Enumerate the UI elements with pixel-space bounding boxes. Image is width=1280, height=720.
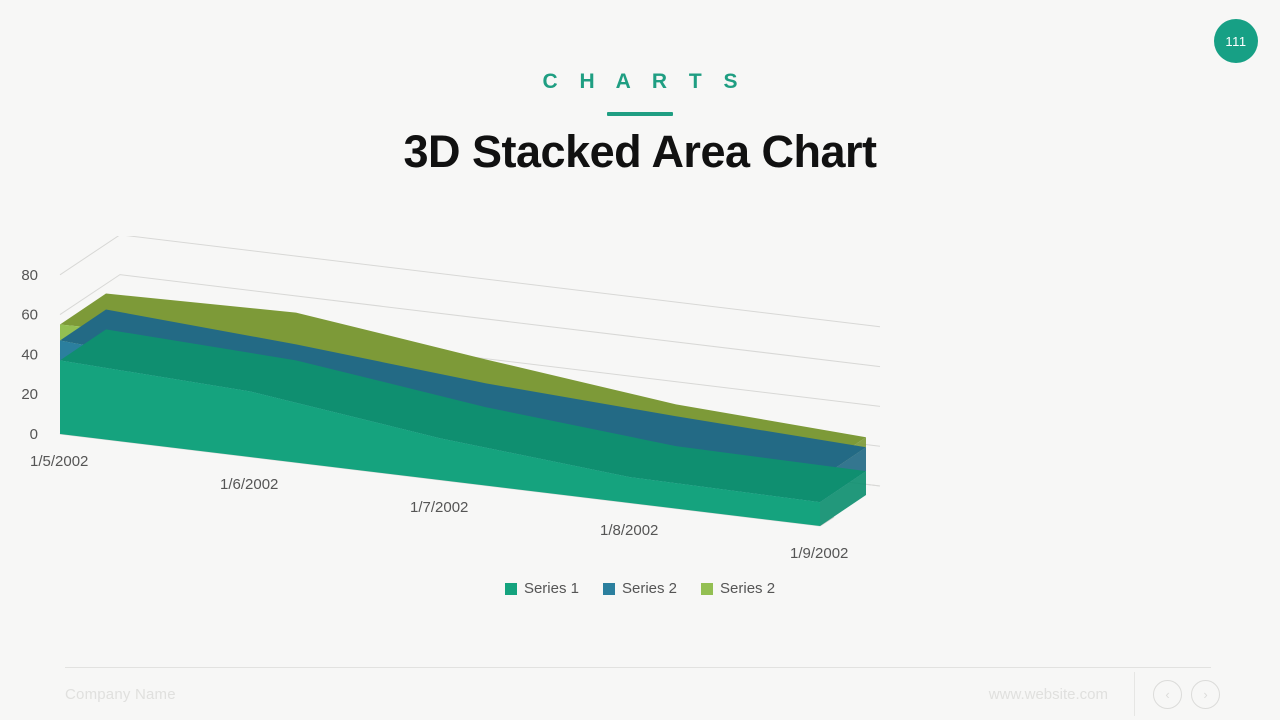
title-underline bbox=[607, 112, 673, 116]
y-axis-tick-label: 0 bbox=[30, 426, 38, 443]
x-axis-tick-label: 1/9/2002 bbox=[790, 545, 848, 562]
y-axis-tick-label: 20 bbox=[21, 386, 38, 403]
y-axis-tick-label: 60 bbox=[21, 307, 38, 324]
x-axis-tick-label: 1/7/2002 bbox=[410, 499, 468, 516]
slide-footer: Company Name www.website.com ‹ › bbox=[65, 672, 1220, 716]
x-axis-tick-label: 1/6/2002 bbox=[220, 476, 278, 493]
legend-label: Series 2 bbox=[622, 580, 677, 597]
legend-swatch-icon bbox=[505, 583, 517, 595]
x-axis-tick-label: 1/8/2002 bbox=[600, 522, 658, 539]
nav-buttons: ‹ › bbox=[1153, 680, 1220, 709]
page-number: 111 bbox=[1225, 34, 1246, 49]
footer-divider bbox=[65, 667, 1211, 668]
footer-vertical-divider bbox=[1134, 672, 1135, 716]
next-slide-button[interactable]: › bbox=[1191, 680, 1220, 709]
page-number-badge: 111 bbox=[1214, 19, 1258, 63]
legend-item[interactable]: Series 1 bbox=[505, 580, 579, 597]
legend-swatch-icon bbox=[603, 583, 615, 595]
slide: 111 C H A R T S 3D Stacked Area Chart 02… bbox=[0, 0, 1280, 720]
y-axis-tick-label: 80 bbox=[21, 267, 38, 284]
x-axis-tick-label: 1/5/2002 bbox=[30, 453, 88, 470]
legend-label: Series 1 bbox=[524, 580, 579, 597]
website-url: www.website.com bbox=[989, 686, 1108, 703]
slide-header: C H A R T S 3D Stacked Area Chart bbox=[0, 70, 1280, 178]
y-axis-tick-label: 40 bbox=[21, 346, 38, 363]
company-name: Company Name bbox=[65, 686, 176, 703]
legend-label: Series 2 bbox=[720, 580, 775, 597]
legend-item[interactable]: Series 2 bbox=[701, 580, 775, 597]
prev-slide-button[interactable]: ‹ bbox=[1153, 680, 1182, 709]
area-chart-3d: 0204060801/5/20021/6/20021/7/20021/8/200… bbox=[0, 236, 1280, 586]
legend-item[interactable]: Series 2 bbox=[603, 580, 677, 597]
chart-container: 0204060801/5/20021/6/20021/7/20021/8/200… bbox=[0, 236, 1280, 586]
eyebrow-label: C H A R T S bbox=[0, 70, 1280, 94]
legend-swatch-icon bbox=[701, 583, 713, 595]
chart-legend: Series 1Series 2Series 2 bbox=[0, 580, 1280, 597]
page-title: 3D Stacked Area Chart bbox=[0, 126, 1280, 178]
